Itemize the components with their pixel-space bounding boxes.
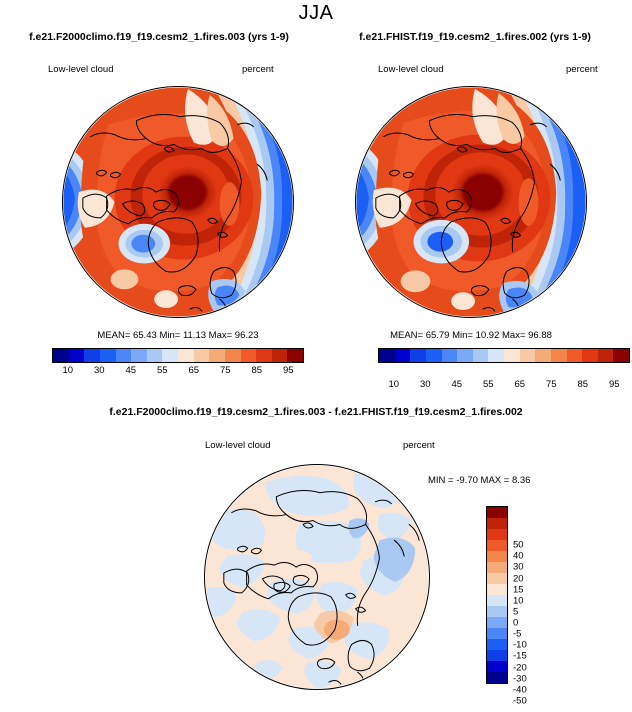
colorbar-swatch [209, 349, 225, 362]
colorbar-swatch [487, 540, 507, 551]
colorbar-swatch [53, 349, 69, 362]
colorbar-swatch [487, 573, 507, 584]
colorbar-swatch [598, 349, 614, 362]
colorbar-tick-label: 20 [513, 573, 524, 584]
colorbar-tick-label: -20 [513, 662, 527, 673]
colorbar-swatch [487, 606, 507, 617]
colorbar-swatch [487, 529, 507, 540]
colorbar-tick-label: 10 [388, 379, 399, 390]
diff-panel-units-label: percent [403, 440, 435, 451]
colorbar-swatch [410, 349, 426, 362]
colorbar-swatch [535, 349, 551, 362]
colorbar-swatch [379, 349, 395, 362]
colorbar-tick-label: 55 [157, 365, 168, 376]
colorbar-swatch [487, 628, 507, 639]
colorbar-swatch [487, 551, 507, 562]
colorbar-swatch [178, 349, 194, 362]
right-panel-colorbar-labels: 1030455565758595 [378, 379, 630, 393]
colorbar-tick-label: 85 [577, 379, 588, 390]
colorbar-swatch [147, 349, 163, 362]
colorbar-swatch [487, 639, 507, 650]
left-panel-map [62, 86, 294, 318]
colorbar-tick-label: 85 [251, 365, 262, 376]
right-panel-variable-label: Low-level cloud [378, 64, 443, 75]
colorbar-tick-label: -40 [513, 684, 527, 695]
colorbar-swatch [487, 507, 507, 518]
colorbar-swatch [116, 349, 132, 362]
colorbar-swatch [426, 349, 442, 362]
right-panel-colorbar[interactable] [378, 348, 630, 363]
colorbar-tick-label: 95 [283, 365, 294, 376]
left-panel-colorbar[interactable] [52, 348, 304, 363]
colorbar-swatch [582, 349, 598, 362]
diff-panel-map [204, 464, 430, 690]
diff-panel-stats: MIN = -9.70 MAX = 8.36 [428, 475, 530, 486]
colorbar-swatch [487, 562, 507, 573]
colorbar-swatch [473, 349, 489, 362]
colorbar-swatch [256, 349, 272, 362]
left-panel-title: f.e21.F2000climo.f19_f19.cesm2_1.fires.0… [4, 31, 314, 43]
left-panel-map-field [63, 87, 293, 317]
colorbar-swatch [487, 518, 507, 529]
colorbar-swatch [69, 349, 85, 362]
colorbar-swatch [395, 349, 411, 362]
colorbar-tick-label: -50 [513, 695, 527, 706]
right-panel-title: f.e21.FHIST.f19_f19.cesm2_1.fires.002 (y… [322, 31, 628, 43]
colorbar-swatch [225, 349, 241, 362]
diff-panel-title: f.e21.F2000climo.f19_f19.cesm2_1.fires.0… [0, 406, 632, 418]
colorbar-swatch [520, 349, 536, 362]
colorbar-tick-label: -30 [513, 673, 527, 684]
colorbar-tick-label: 0 [513, 618, 518, 629]
right-panel-map [355, 86, 587, 318]
colorbar-swatch [551, 349, 567, 362]
colorbar-tick-label: 30 [94, 365, 105, 376]
colorbar-tick-label: 50 [513, 540, 524, 551]
colorbar-swatch [487, 661, 507, 672]
colorbar-swatch [487, 617, 507, 628]
colorbar-swatch [442, 349, 458, 362]
colorbar-swatch [457, 349, 473, 362]
left-panel-colorbar-labels: 1030455565758595 [52, 365, 304, 379]
colorbar-tick-label: 15 [513, 584, 524, 595]
colorbar-swatch [487, 672, 507, 683]
right-panel-units-label: percent [566, 64, 598, 75]
colorbar-swatch [567, 349, 583, 362]
colorbar-tick-label: 75 [546, 379, 557, 390]
colorbar-swatch [487, 650, 507, 661]
diff-panel-colorbar[interactable] [486, 506, 508, 684]
colorbar-tick-label: 75 [220, 365, 231, 376]
left-panel-stats: MEAN= 65.43 Min= 11.13 Max= 96.23 [62, 330, 294, 341]
colorbar-swatch [84, 349, 100, 362]
colorbar-tick-label: 45 [125, 365, 136, 376]
diff-panel-variable-label: Low-level cloud [205, 440, 270, 451]
diff-panel-map-field [205, 465, 429, 689]
colorbar-swatch [504, 349, 520, 362]
colorbar-tick-label: 10 [62, 365, 73, 376]
colorbar-tick-label: 5 [513, 606, 518, 617]
colorbar-swatch [487, 584, 507, 595]
colorbar-swatch [487, 595, 507, 606]
colorbar-swatch [100, 349, 116, 362]
colorbar-tick-label: 30 [513, 562, 524, 573]
season-title: JJA [0, 2, 632, 25]
left-panel-units-label: percent [242, 64, 274, 75]
colorbar-tick-label: -5 [513, 629, 521, 640]
colorbar-swatch [272, 349, 288, 362]
colorbar-tick-label: 65 [514, 379, 525, 390]
colorbar-tick-label: -15 [513, 651, 527, 662]
colorbar-swatch [241, 349, 257, 362]
colorbar-tick-label: 95 [609, 379, 620, 390]
right-panel-stats: MEAN= 65.79 Min= 10.92 Max= 96.88 [355, 330, 587, 341]
colorbar-tick-label: 10 [513, 595, 524, 606]
colorbar-swatch [287, 349, 303, 362]
colorbar-swatch [488, 349, 504, 362]
colorbar-tick-label: 40 [513, 551, 524, 562]
left-panel-variable-label: Low-level cloud [48, 64, 113, 75]
colorbar-swatch [194, 349, 210, 362]
colorbar-tick-label: 55 [483, 379, 494, 390]
right-panel-map-field [356, 87, 586, 317]
colorbar-swatch [613, 349, 629, 362]
diff-panel-colorbar-labels: 50403020151050-5-10-15-20-30-40-50 [513, 534, 553, 712]
colorbar-swatch [162, 349, 178, 362]
colorbar-tick-label: -10 [513, 640, 527, 651]
colorbar-tick-label: 45 [451, 379, 462, 390]
colorbar-swatch [131, 349, 147, 362]
colorbar-tick-label: 30 [420, 379, 431, 390]
colorbar-tick-label: 65 [188, 365, 199, 376]
